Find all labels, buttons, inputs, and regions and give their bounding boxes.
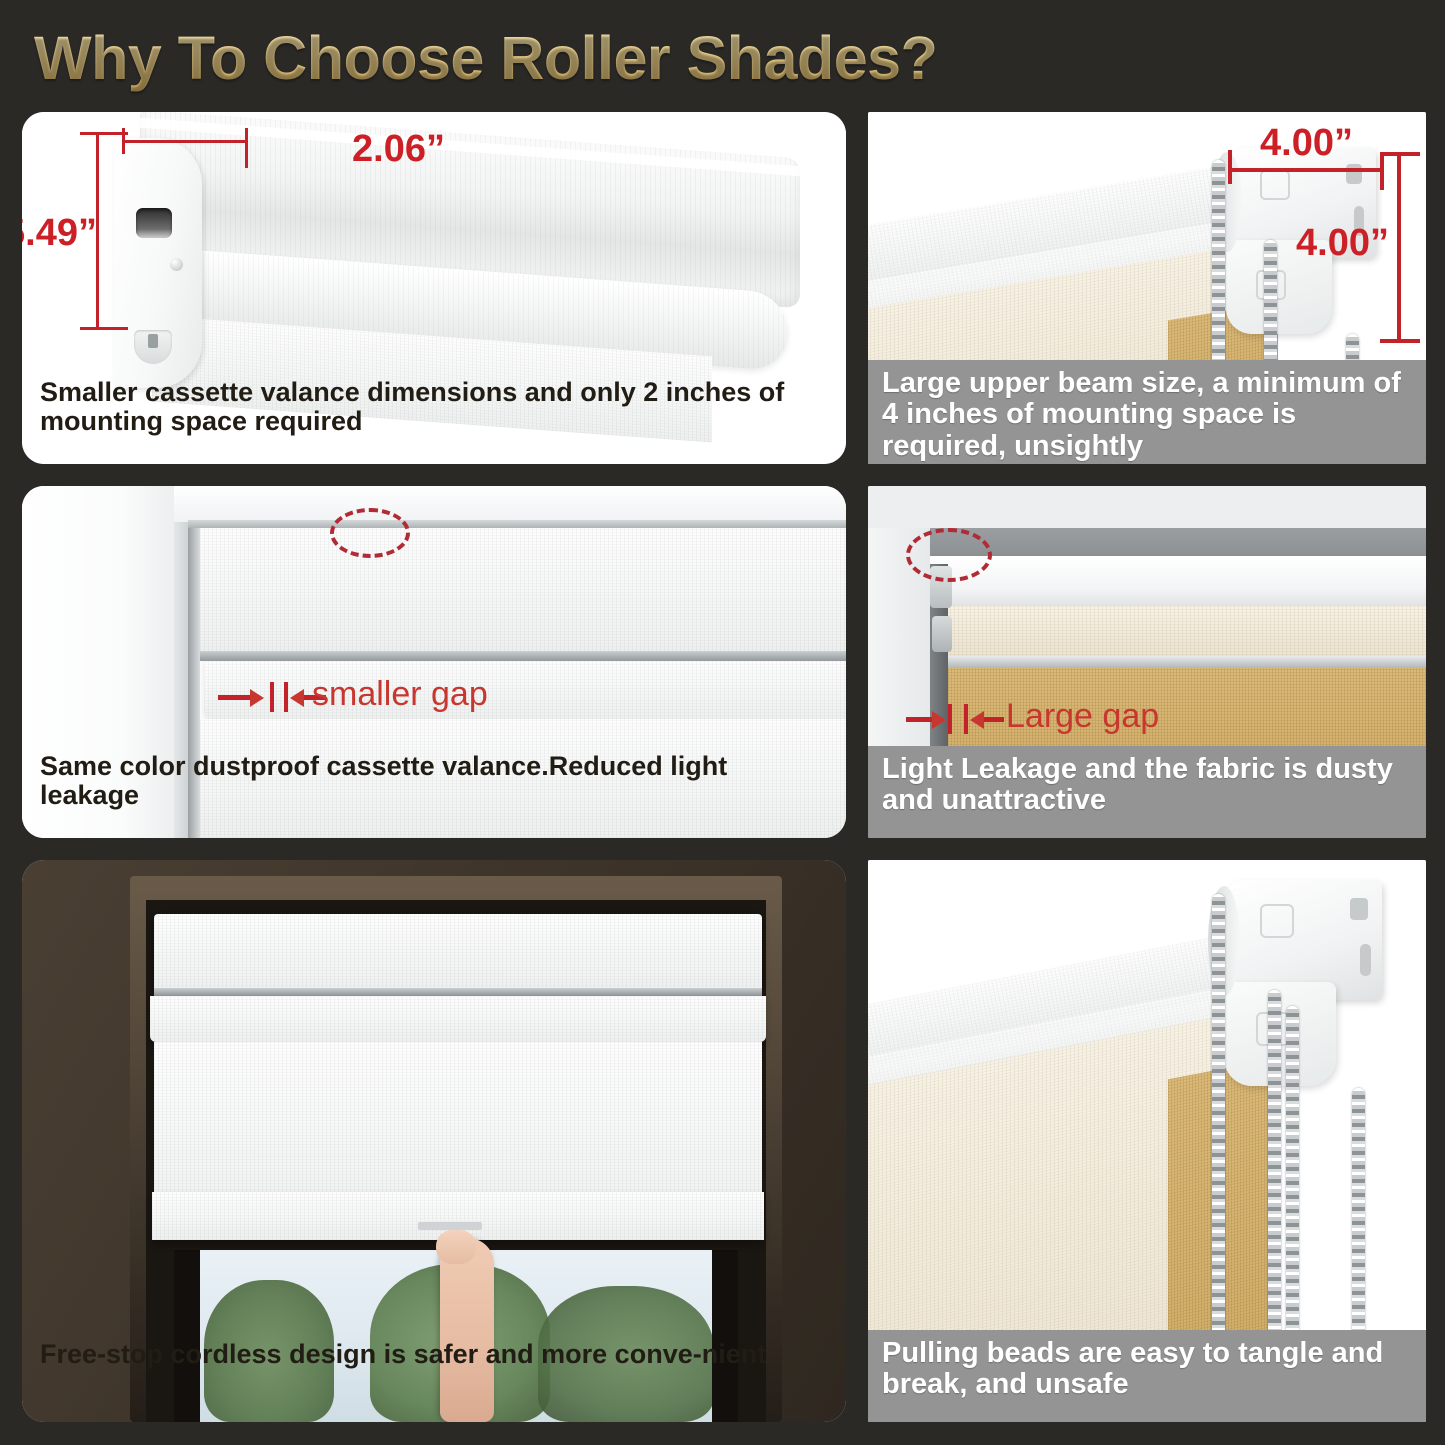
panel-top-right-caption: Large upper beam size, a minimum of 4 in… <box>868 360 1426 464</box>
width-dimension-label: 2.06” <box>352 128 445 171</box>
gap-arrow-left-head <box>932 711 946 729</box>
gap-marker-line-a <box>948 704 952 734</box>
gap-marker-line-b <box>964 704 968 734</box>
width-dimension-line <box>122 140 248 143</box>
gap-label: Large gap <box>1006 697 1159 736</box>
panel-bottom-left: Free-stop cordless design is safer and m… <box>22 860 846 1422</box>
gap-arrow-left-head <box>250 689 264 707</box>
caption-text: Pulling beads are easy to tangle and bre… <box>882 1338 1412 1401</box>
panel-bottom-right-caption: Pulling beads are easy to tangle and bre… <box>868 1330 1426 1422</box>
gap-highlight-ellipse <box>330 508 410 558</box>
panel-top-left-caption: Smaller cassette valance dimensions and … <box>22 364 846 464</box>
page-title: Why To Choose Roller Shades? <box>34 22 1034 94</box>
caption-text: Free-stop cordless design is safer and m… <box>40 1340 766 1369</box>
height-dimension-label: 4.00” <box>1296 222 1389 265</box>
gap-label: smaller gap <box>312 675 488 714</box>
height-dimension-line <box>1397 152 1401 342</box>
panel-bottom-right: Pulling beads are easy to tangle and bre… <box>868 860 1426 1422</box>
width-dimension-line <box>1228 168 1383 172</box>
width-dimension-label: 4.00” <box>1260 122 1353 165</box>
gap-arrow-right-head <box>290 689 304 707</box>
gap-highlight-ellipse <box>906 528 992 582</box>
height-dimension-tick-bottom <box>80 327 128 330</box>
gap-arrow-left-shaft <box>218 695 252 700</box>
caption-text: Light Leakage and the fabric is dusty an… <box>882 754 1412 817</box>
caption-text: Large upper beam size, a minimum of 4 in… <box>882 368 1412 462</box>
gap-arrow-right-head <box>970 711 984 729</box>
height-dimension-tick-bottom <box>1380 339 1420 343</box>
panel-bottom-left-caption: Free-stop cordless design is safer and m… <box>22 1326 846 1422</box>
panel-mid-left: smaller gap Same color dustproof cassett… <box>22 486 846 838</box>
height-dimension-label: 5.49” <box>22 212 97 255</box>
caption-text: Smaller cassette valance dimensions and … <box>40 378 828 436</box>
caption-text: Same color dustproof cassette valance.Re… <box>40 752 828 810</box>
panel-top-left: 5.49” 2.06” Smaller cassette valance dim… <box>22 112 846 464</box>
width-dimension-tick-right <box>245 128 248 168</box>
width-dimension-tick-left <box>1228 150 1232 184</box>
height-dimension-tick-top <box>80 132 128 135</box>
panel-mid-left-caption: Same color dustproof cassette valance.Re… <box>22 738 846 838</box>
infographic-root: Why To Choose Roller Shades? <box>0 0 1445 1445</box>
panel-mid-right: Large gap Light Leakage and the fabric i… <box>868 486 1426 838</box>
gap-marker-line-a <box>270 682 274 712</box>
width-dimension-tick-left <box>122 128 125 154</box>
width-dimension-tick-right <box>1380 156 1384 190</box>
panel-mid-right-caption: Light Leakage and the fabric is dusty an… <box>868 746 1426 838</box>
gap-arrow-left-shaft <box>906 717 934 722</box>
gap-arrow-right-shaft <box>984 717 1004 722</box>
height-dimension-tick-top <box>1380 152 1420 156</box>
gap-marker-line-b <box>284 682 288 712</box>
panel-top-right: 4.00” 4.00” Large upper beam size, a min… <box>868 112 1426 464</box>
